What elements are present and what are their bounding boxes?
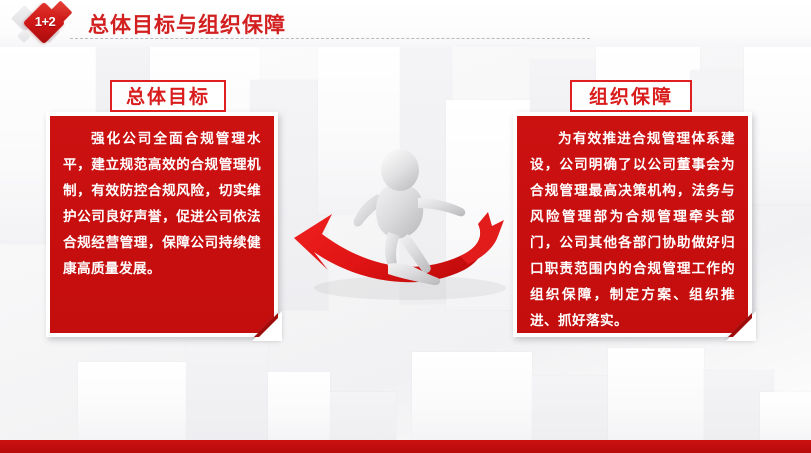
card-title-overall-goal: 总体目标 (110, 80, 226, 112)
illustration-person-riding-red-arrow (292, 128, 532, 313)
card-fold-highlight-right (733, 318, 752, 337)
card-fold-highlight-left (259, 318, 278, 337)
card-body-overall-goal: 强化公司全面合规管理水平，建立规范高效的合规管理机制，有效防控合规风险，切实维护… (46, 112, 278, 337)
slide-canvas: 1+2 总体目标与组织保障 总体目标 强化公司全面合规管理水平，建立规范高效的合… (0, 0, 811, 453)
card-title-organizational-guarantee: 组织保障 (570, 80, 692, 112)
logo-diamond-grey-small (17, 29, 31, 43)
logo-text: 1+2 (29, 14, 61, 29)
bottom-accent-bar (0, 440, 811, 453)
card-body-organizational-guarantee: 为有效推进合规管理体系建设，公司明确了以公司董事会为合规管理最高决策机构，法务与… (513, 112, 752, 337)
logo: 1+2 (14, 2, 84, 46)
header-divider (70, 38, 590, 39)
page-title: 总体目标与组织保障 (88, 9, 286, 39)
